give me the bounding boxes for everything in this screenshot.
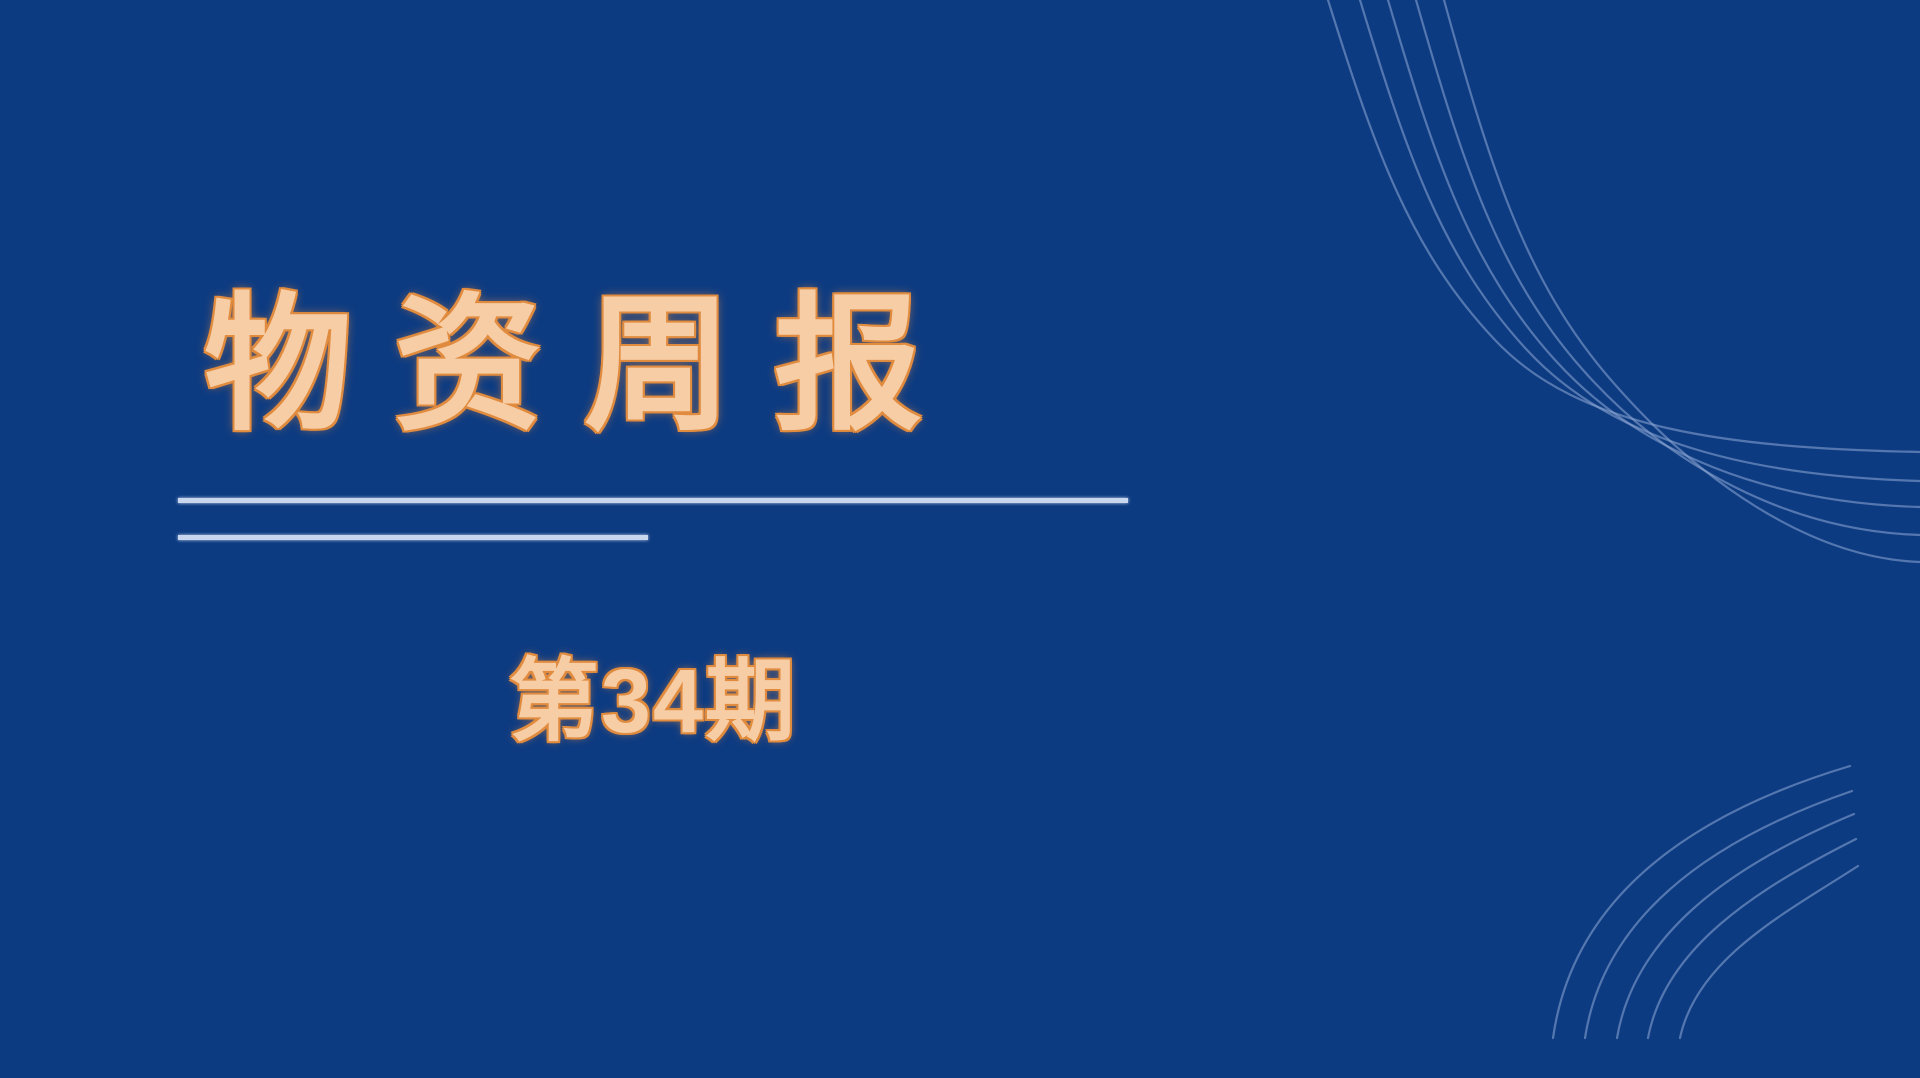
page-title: 物资周报	[178, 292, 1128, 440]
issue-subtitle: 第34期	[178, 648, 1128, 756]
slide-content: 物资周报 第34期	[0, 0, 1920, 1078]
title-underline-short	[178, 535, 648, 540]
title-underline-group	[178, 498, 1138, 540]
title-block: 物资周报	[178, 292, 1128, 440]
title-slide: 物资周报 第34期	[0, 0, 1920, 1078]
title-underline-long	[178, 498, 1128, 503]
